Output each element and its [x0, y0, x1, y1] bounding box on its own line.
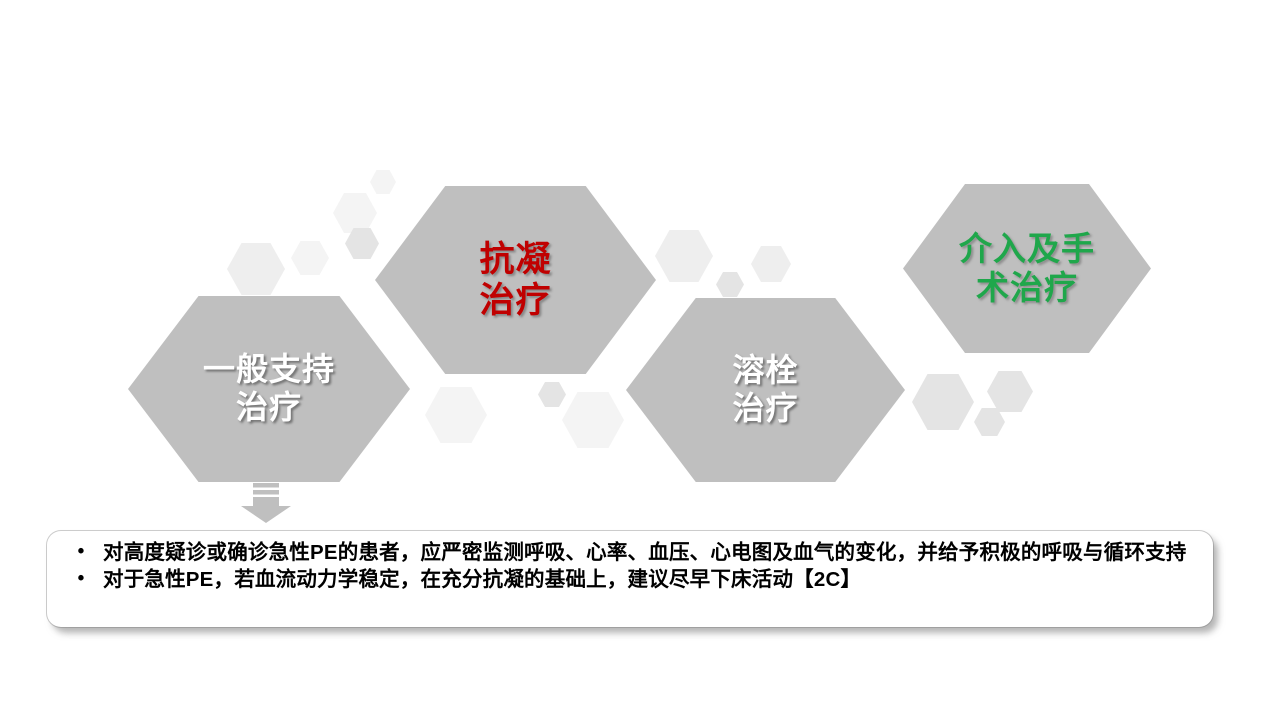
decorative-hexagon — [333, 193, 377, 233]
callout-box: • 对高度疑诊或确诊急性PE的患者，应严密监测呼吸、心率、血压、心电图及血气的变… — [47, 531, 1213, 627]
hexagon-label: 一般支持 治疗 — [203, 351, 335, 427]
callout-bullet-text: 对于急性PE，若血流动力学稳定，在充分抗凝的基础上，建议尽早下床活动【2C】 — [103, 566, 1199, 593]
decorative-hexagon — [425, 387, 487, 443]
decorative-hexagon — [987, 371, 1033, 412]
decorative-hexagon — [974, 408, 1005, 436]
callout-bullet-item: • 对于急性PE，若血流动力学稳定，在充分抗凝的基础上，建议尽早下床活动【2C】 — [59, 566, 1199, 593]
hexagon-thrombolytic-therapy[interactable]: 溶栓 治疗 — [626, 298, 905, 482]
callout-bullet-text: 对高度疑诊或确诊急性PE的患者，应严密监测呼吸、心率、血压、心电图及血气的变化，… — [103, 539, 1199, 566]
hexagon-label: 溶栓 治疗 — [732, 352, 798, 428]
decorative-hexagon — [655, 230, 713, 282]
hexagon-general-supportive-care[interactable]: 一般支持 治疗 — [128, 296, 410, 482]
decorative-hexagon — [912, 374, 974, 430]
decorative-hexagon — [291, 241, 329, 275]
decorative-hexagon — [370, 170, 396, 194]
decorative-hexagon — [716, 272, 744, 297]
striped-down-arrow-icon — [239, 476, 293, 524]
decorative-hexagon — [751, 246, 791, 282]
hexagon-interventional-surgical-therapy[interactable]: 介入及手 术治疗 — [903, 184, 1151, 353]
bullet-dot-icon: • — [59, 566, 103, 591]
callout-bullet-item: • 对高度疑诊或确诊急性PE的患者，应严密监测呼吸、心率、血压、心电图及血气的变… — [59, 539, 1199, 566]
hexagon-label: 抗凝 治疗 — [479, 239, 551, 322]
hexagon-label: 介入及手 术治疗 — [959, 230, 1095, 308]
bullet-dot-icon: • — [59, 539, 103, 564]
decorative-hexagon — [562, 392, 624, 448]
hexagon-anticoagulation-therapy[interactable]: 抗凝 治疗 — [375, 186, 656, 374]
decorative-hexagon — [538, 382, 566, 407]
slide-canvas: 一般支持 治疗 抗凝 治疗 溶栓 治疗 介入及手 术治疗 • 对高度疑诊或确诊急… — [0, 0, 1280, 720]
decorative-hexagon — [227, 243, 285, 295]
